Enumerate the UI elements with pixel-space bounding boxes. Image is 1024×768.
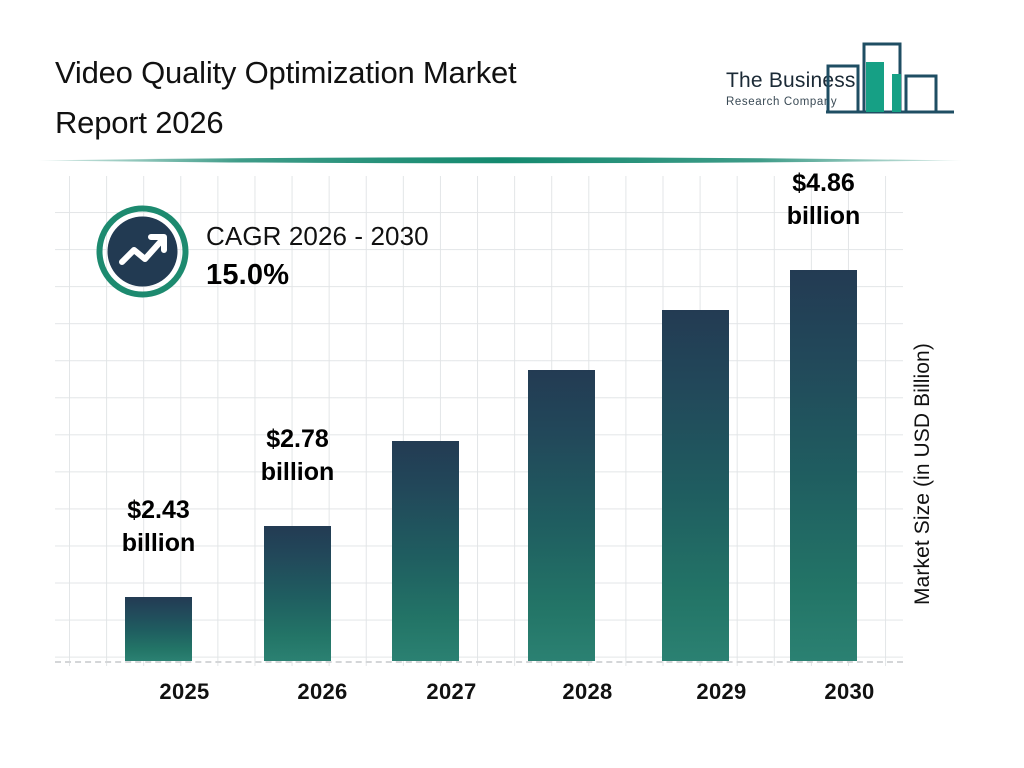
x-tick-2029: 2029 bbox=[662, 679, 782, 705]
bar-2029 bbox=[662, 310, 729, 661]
y-axis-title-text: Market Size (in USD Billion) bbox=[911, 343, 935, 605]
bar-2025 bbox=[125, 597, 192, 661]
bar-chart-buildings-logo-mark bbox=[826, 34, 956, 119]
bar-2028 bbox=[528, 370, 595, 661]
cagr-callout: CAGR 2026 - 2030 15.0% bbox=[96, 205, 516, 305]
x-tick-2028: 2028 bbox=[528, 679, 648, 705]
trending-up-icon bbox=[96, 205, 189, 298]
y-axis-title: Market Size (in USD Billion) bbox=[911, 284, 935, 664]
chart-baseline bbox=[55, 661, 903, 663]
bar-value-label-2026: $2.78 billion bbox=[238, 423, 358, 489]
x-tick-2027: 2027 bbox=[392, 679, 512, 705]
x-tick-2026: 2026 bbox=[263, 679, 383, 705]
cagr-period-label: CAGR 2026 - 2030 bbox=[206, 221, 429, 252]
page-title: Video Quality Optimization Market Report… bbox=[55, 48, 675, 148]
company-logo: The Business Research Company bbox=[726, 34, 966, 134]
bar-2030 bbox=[790, 270, 857, 661]
bar-2027 bbox=[392, 441, 459, 661]
bar-2026 bbox=[264, 526, 331, 661]
x-tick-2025: 2025 bbox=[125, 679, 245, 705]
cagr-value: 15.0% bbox=[206, 259, 289, 292]
header-divider bbox=[38, 152, 962, 168]
bar-value-label-2025: $2.43 billion bbox=[99, 494, 219, 560]
x-tick-2030: 2030 bbox=[790, 679, 910, 705]
bar-value-label-2030: $4.86 billion bbox=[764, 167, 884, 233]
chart-page: Video Quality Optimization Market Report… bbox=[0, 0, 1024, 768]
